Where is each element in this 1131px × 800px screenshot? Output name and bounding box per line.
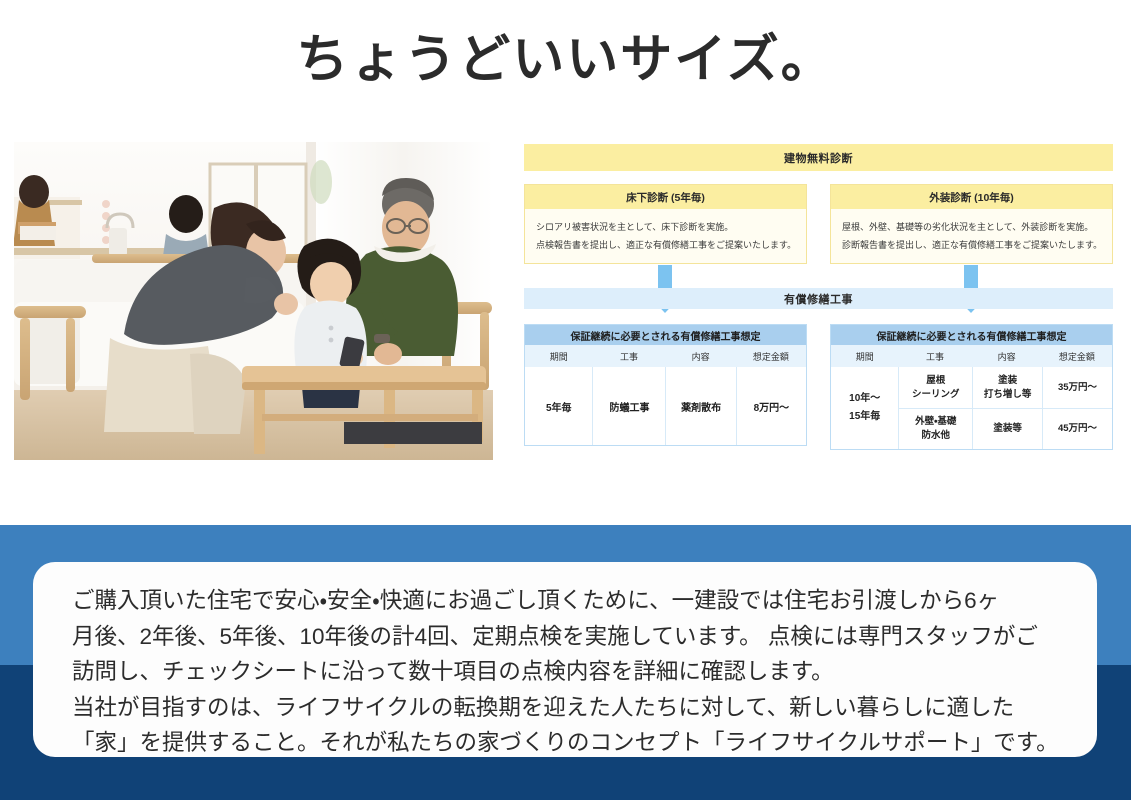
photo-illustration	[14, 142, 493, 460]
column-header-work: 工事	[592, 350, 665, 363]
cell-work-line-1: 屋根	[926, 374, 945, 388]
table-row-group: 10年〜 15年毎 屋根 シーリング 塗装 打ち増し等 35万円〜	[831, 367, 1112, 449]
cell-amount: 35万円〜	[1042, 367, 1112, 408]
repair-table-exterior-body: 10年〜 15年毎 屋根 シーリング 塗装 打ち増し等 35万円〜	[831, 367, 1112, 449]
cell-amount: 8万円〜	[736, 367, 806, 445]
table-subrows: 屋根 シーリング 塗装 打ち増し等 35万円〜 外壁・基礎 防水他	[898, 367, 1112, 449]
inspection-box-exterior-heading: 外装診断 (10年毎)	[831, 185, 1112, 209]
cell-period-line-1: 10年〜	[849, 390, 880, 409]
inspection-box-floor-body: シロアリ被害状況を主として、床下診断を実施。 点検報告書を提出し、適正な有償修繕…	[525, 209, 806, 254]
column-header-period: 期間	[525, 350, 592, 363]
table-row: 屋根 シーリング 塗装 打ち増し等 35万円〜	[898, 367, 1112, 408]
diagram-top-band: 建物無料診断	[524, 144, 1113, 171]
cell-work: 屋根 シーリング	[899, 367, 972, 408]
column-header-detail: 内容	[971, 350, 1041, 363]
table-row: 外壁・基礎 防水他 塗装等 45万円〜	[898, 408, 1112, 449]
inspection-box-floor-heading: 床下診断 (5年毎)	[525, 185, 806, 209]
cell-work: 外壁・基礎 防水他	[899, 409, 972, 449]
cell-detail: 塗装 打ち増し等	[972, 367, 1042, 408]
cell-work-line-2: シーリング	[912, 388, 960, 402]
maintenance-diagram: 建物無料診断 床下診断 (5年毎) シロアリ被害状況を主として、床下診断を実施。…	[524, 144, 1113, 462]
column-header-detail: 内容	[665, 350, 735, 363]
cell-detail-line-1: 塗装等	[993, 422, 1022, 436]
concept-text: ご購入頂いた住宅で安心・安全・快適にお過ごし頂くために、一建設では住宅お引渡しか…	[72, 583, 1072, 761]
inspection-box-floor-line-2: 点検報告書を提出し、適正な有償修繕工事をご提案いたします。	[536, 237, 795, 255]
concept-line-1: ご購入頂いた住宅で安心・安全・快適にお過ごし頂くために、一建設では住宅お引渡しか…	[72, 583, 1072, 619]
concept-text-card: ご購入頂いた住宅で安心・安全・快適にお過ごし頂くために、一建設では住宅お引渡しか…	[33, 562, 1097, 757]
cell-work-line-2: 防水他	[922, 429, 951, 443]
inspection-box-exterior-body: 屋根、外壁、基礎等の劣化状況を主として、外装診断を実施。 診断報告書を提出し、適…	[831, 209, 1112, 254]
repair-table-exterior: 保証継続に必要とされる有償修繕工事想定 期間 工事 内容 想定金額 10年〜 1…	[830, 324, 1113, 450]
cell-detail-line-2: 打ち増し等	[984, 388, 1032, 402]
cell-detail: 薬剤散布	[665, 367, 735, 445]
concept-line-2: 月後、2年後、5年後、10年後の計4回、定期点検を実施しています。 点検には専門…	[72, 619, 1072, 655]
family-living-room-photo	[14, 142, 493, 460]
diagram-mid-band: 有償修繕工事	[524, 288, 1113, 309]
inspection-box-exterior-line-1: 屋根、外壁、基礎等の劣化状況を主として、外装診断を実施。	[842, 219, 1101, 237]
cell-period: 5年毎	[525, 367, 592, 445]
column-header-amount: 想定金額	[736, 350, 806, 363]
inspection-box-exterior: 外装診断 (10年毎) 屋根、外壁、基礎等の劣化状況を主として、外装診断を実施。…	[830, 184, 1113, 264]
column-header-amount: 想定金額	[1042, 350, 1112, 363]
repair-table-floor: 保証継続に必要とされる有償修繕工事想定 期間 工事 内容 想定金額 5年毎 防蟻…	[524, 324, 807, 446]
repair-table-exterior-columns: 期間 工事 内容 想定金額	[831, 345, 1112, 367]
inspection-box-floor-line-1: シロアリ被害状況を主として、床下診断を実施。	[536, 219, 795, 237]
column-header-work: 工事	[898, 350, 971, 363]
inspection-box-exterior-line-2: 診断報告書を提出し、適正な有償修繕工事をご提案いたします。	[842, 237, 1101, 255]
concept-line-5: 「家」を提供すること。それが私たちの家づくりのコンセプト「ライフサイクルサポート…	[72, 725, 1072, 761]
cell-period-line-2: 15年毎	[849, 408, 880, 427]
repair-table-exterior-heading: 保証継続に必要とされる有償修繕工事想定	[831, 325, 1112, 345]
concept-line-4: 当社が目指すのは、ライフサイクルの転換期を迎えた人たちに対して、新しい暮らしに適…	[72, 690, 1072, 726]
cell-detail: 塗装等	[972, 409, 1042, 449]
concept-line-3: 訪問し、チェックシートに沿って数十項目の点検内容を詳細に確認します。	[72, 654, 1072, 690]
repair-table-floor-body: 5年毎 防蟻工事 薬剤散布 8万円〜	[525, 367, 806, 445]
cell-amount: 45万円〜	[1042, 409, 1112, 449]
page-title: ちょうどいいサイズ。	[0, 28, 1131, 93]
repair-table-floor-heading: 保証継続に必要とされる有償修繕工事想定	[525, 325, 806, 345]
cell-work: 防蟻工事	[592, 367, 665, 445]
cell-detail-line-1: 塗装	[998, 374, 1017, 388]
column-header-period: 期間	[831, 350, 898, 363]
table-row: 5年毎 防蟻工事 薬剤散布 8万円〜	[525, 367, 806, 445]
repair-table-floor-columns: 期間 工事 内容 想定金額	[525, 345, 806, 367]
cell-work-line-1: 外壁・基礎	[915, 415, 956, 429]
inspection-box-floor: 床下診断 (5年毎) シロアリ被害状況を主として、床下診断を実施。 点検報告書を…	[524, 184, 807, 264]
cell-period-merged: 10年〜 15年毎	[831, 367, 898, 449]
